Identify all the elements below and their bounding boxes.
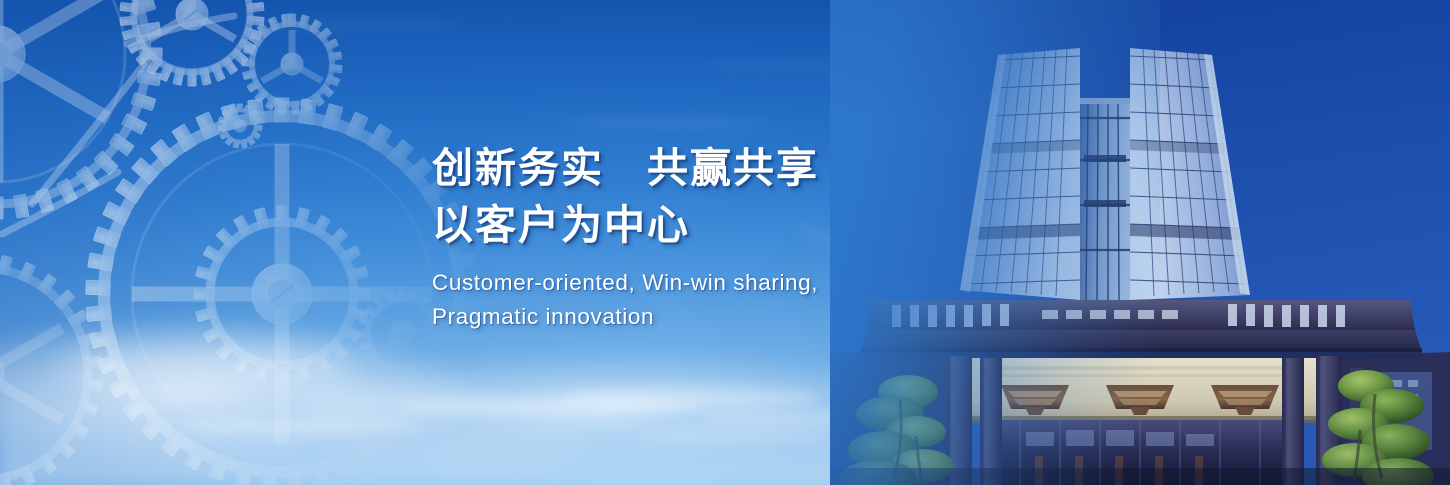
subheadline-en-line-2: Pragmatic innovation [432,300,952,334]
corporate-hero-banner: 创新务实 共赢共享 以客户为中心 Customer-oriented, Win-… [0,0,1450,485]
banner-copy: 创新务实 共赢共享 以客户为中心 Customer-oriented, Win-… [432,140,952,334]
cloud-wisp [640,430,840,442]
subheadline-en: Customer-oriented, Win-win sharing, Prag… [432,266,952,334]
headline-cn-line-2: 以客户为中心 [432,197,952,254]
cloud-wisp [560,120,770,128]
headline-cn-line-1: 创新务实 共赢共享 [432,140,952,197]
subheadline-en-line-1: Customer-oriented, Win-win sharing, [432,266,952,300]
